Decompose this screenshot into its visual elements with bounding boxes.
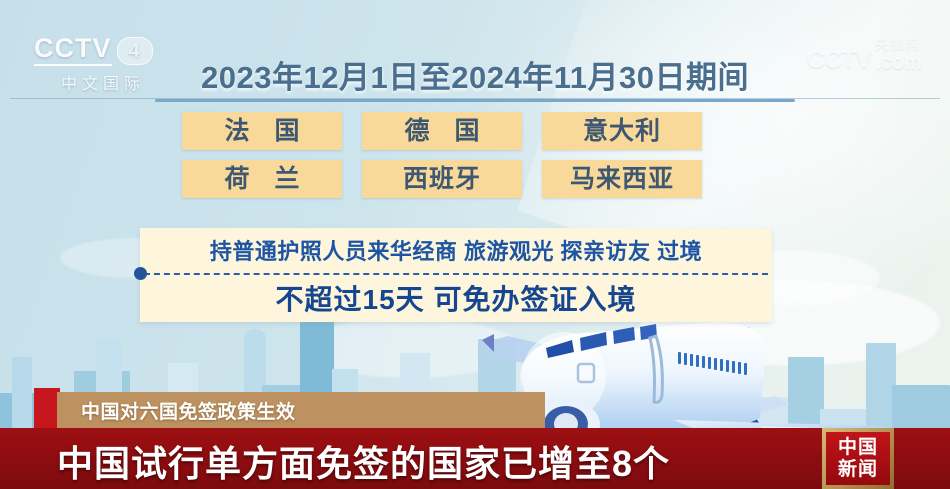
country-tag-row-2: 荷 兰 西班牙 马来西亚 (182, 160, 772, 198)
graphic-title: 2023年12月1日至2024年11月30日期间 (0, 52, 950, 97)
policy-info-panel: 持普通护照人员来华经商 旅游观光 探亲访友 过境 不超过15天 可免办签证入境 (140, 228, 772, 322)
lower-third-kicker-bar: 中国对六国免签政策生效 (57, 392, 545, 428)
country-tag-netherlands: 荷 兰 (182, 160, 342, 198)
title-underline (155, 99, 795, 102)
china-news-badge-line2: 新闻 (838, 459, 878, 480)
china-news-badge-line1: 中国 (838, 437, 878, 458)
country-tag-spain: 西班牙 (362, 160, 522, 198)
lower-third-kicker-text: 中国对六国免签政策生效 (81, 397, 296, 424)
lower-third-headline-bar: 中国试行单方面免签的国家已增至8个 (0, 428, 950, 489)
panel-dashed-divider (144, 273, 768, 275)
lower-third-headline-text: 中国试行单方面免签的国家已增至8个 (57, 435, 670, 487)
country-tag-italy: 意大利 (542, 112, 702, 150)
country-tag-germany: 德 国 (362, 112, 522, 150)
policy-duration-text: 不超过15天 可免办签证入境 (140, 278, 772, 318)
country-tag-malaysia: 马来西亚 (542, 160, 702, 198)
watermark-yangshi-text: 央视网 (875, 38, 922, 51)
country-tag-grid: 法 国 德 国 意大利 荷 兰 西班牙 马来西亚 (182, 112, 772, 208)
china-news-badge: 中国 新闻 (822, 428, 894, 489)
country-tag-row-1: 法 国 德 国 意大利 (182, 112, 772, 150)
broadcast-screen: CCTV 4 中文国际 CCTV 央视网 .com 2023年12月1日至202… (0, 0, 950, 489)
policy-purpose-text: 持普通护照人员来华经商 旅游观光 探亲访友 过境 (140, 234, 772, 266)
country-tag-france: 法 国 (182, 112, 342, 150)
